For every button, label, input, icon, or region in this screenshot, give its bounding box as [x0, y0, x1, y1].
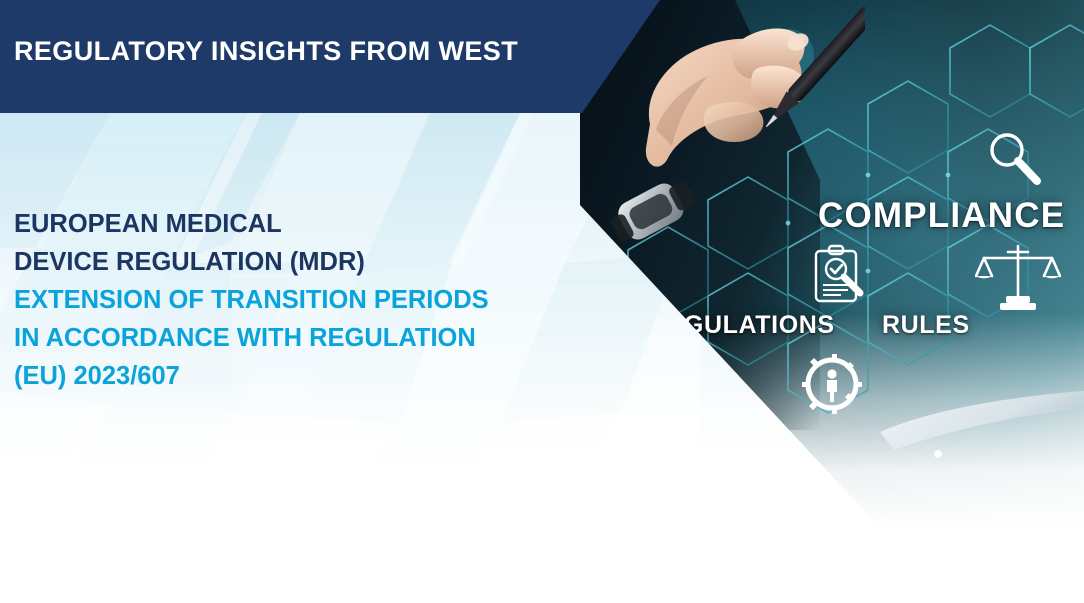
wristwatch-icon: [598, 170, 718, 250]
header-title: REGULATORY INSIGHTS FROM WEST: [14, 36, 518, 67]
scales-of-justice-icon: [975, 242, 1061, 314]
title-line-2: DEVICE REGULATION (MDR): [14, 243, 574, 281]
magnifying-glass-icon: [982, 126, 1048, 192]
title-line-4: IN ACCORDANCE WITH REGULATION: [14, 319, 574, 357]
pen-icon: [735, 0, 865, 180]
photo-label-compliance: COMPLIANCE: [818, 196, 1065, 236]
title-line-1: EUROPEAN MEDICAL: [14, 205, 574, 243]
title-line-5: (EU) 2023/607: [14, 357, 574, 395]
clipboard-check-magnifier-icon: [808, 244, 870, 306]
slide-canvas: COMPLIANCE REGULATIONS RULES REGULATORY …: [0, 0, 1084, 603]
person-in-gear-icon: [800, 352, 864, 416]
title-line-3: EXTENSION OF TRANSITION PERIODS: [14, 281, 574, 319]
page-title: EUROPEAN MEDICAL DEVICE REGULATION (MDR)…: [14, 205, 574, 395]
photo-label-rules: RULES: [882, 311, 970, 340]
tablet-device: [860, 380, 1084, 490]
